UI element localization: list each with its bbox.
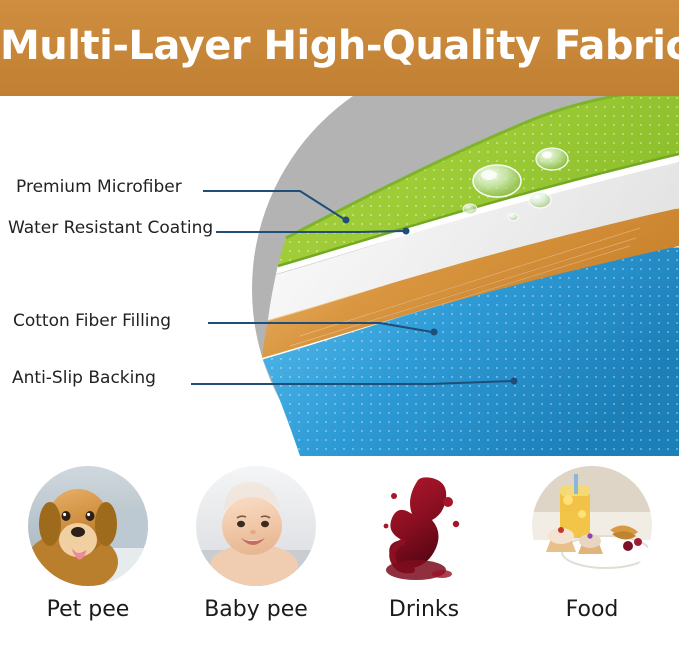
use-case-caption-drinks: Drinks bbox=[344, 597, 504, 622]
header-banner: Multi-Layer High-Quality Fabric bbox=[0, 0, 679, 96]
food-photo bbox=[532, 466, 652, 586]
use-case-food: Food bbox=[512, 456, 672, 647]
page-title: Multi-Layer High-Quality Fabric bbox=[0, 22, 679, 70]
wine-splash-photo bbox=[364, 466, 484, 586]
use-case-drinks: Drinks bbox=[344, 456, 504, 647]
use-case-baby-pee: Baby pee bbox=[176, 456, 336, 647]
use-case-row: Pet pee bbox=[0, 456, 679, 647]
layer-label-cotton-fiber-filling: Cotton Fiber Filling bbox=[13, 311, 171, 331]
dog-photo bbox=[28, 466, 148, 586]
layer-label-water-resistant-coating: Water Resistant Coating bbox=[8, 218, 213, 238]
fabric-diagram: Premium Microfiber Water Resistant Coati… bbox=[0, 96, 679, 456]
use-case-pet-pee: Pet pee bbox=[8, 456, 168, 647]
use-case-caption-food: Food bbox=[512, 597, 672, 622]
baby-photo bbox=[196, 466, 316, 586]
layer-label-anti-slip-backing: Anti-Slip Backing bbox=[12, 368, 156, 388]
layer-label-premium-microfiber: Premium Microfiber bbox=[16, 177, 182, 197]
use-case-caption-baby-pee: Baby pee bbox=[176, 597, 336, 622]
use-case-caption-pet-pee: Pet pee bbox=[8, 597, 168, 622]
fabric-layers-illustration bbox=[0, 96, 679, 456]
